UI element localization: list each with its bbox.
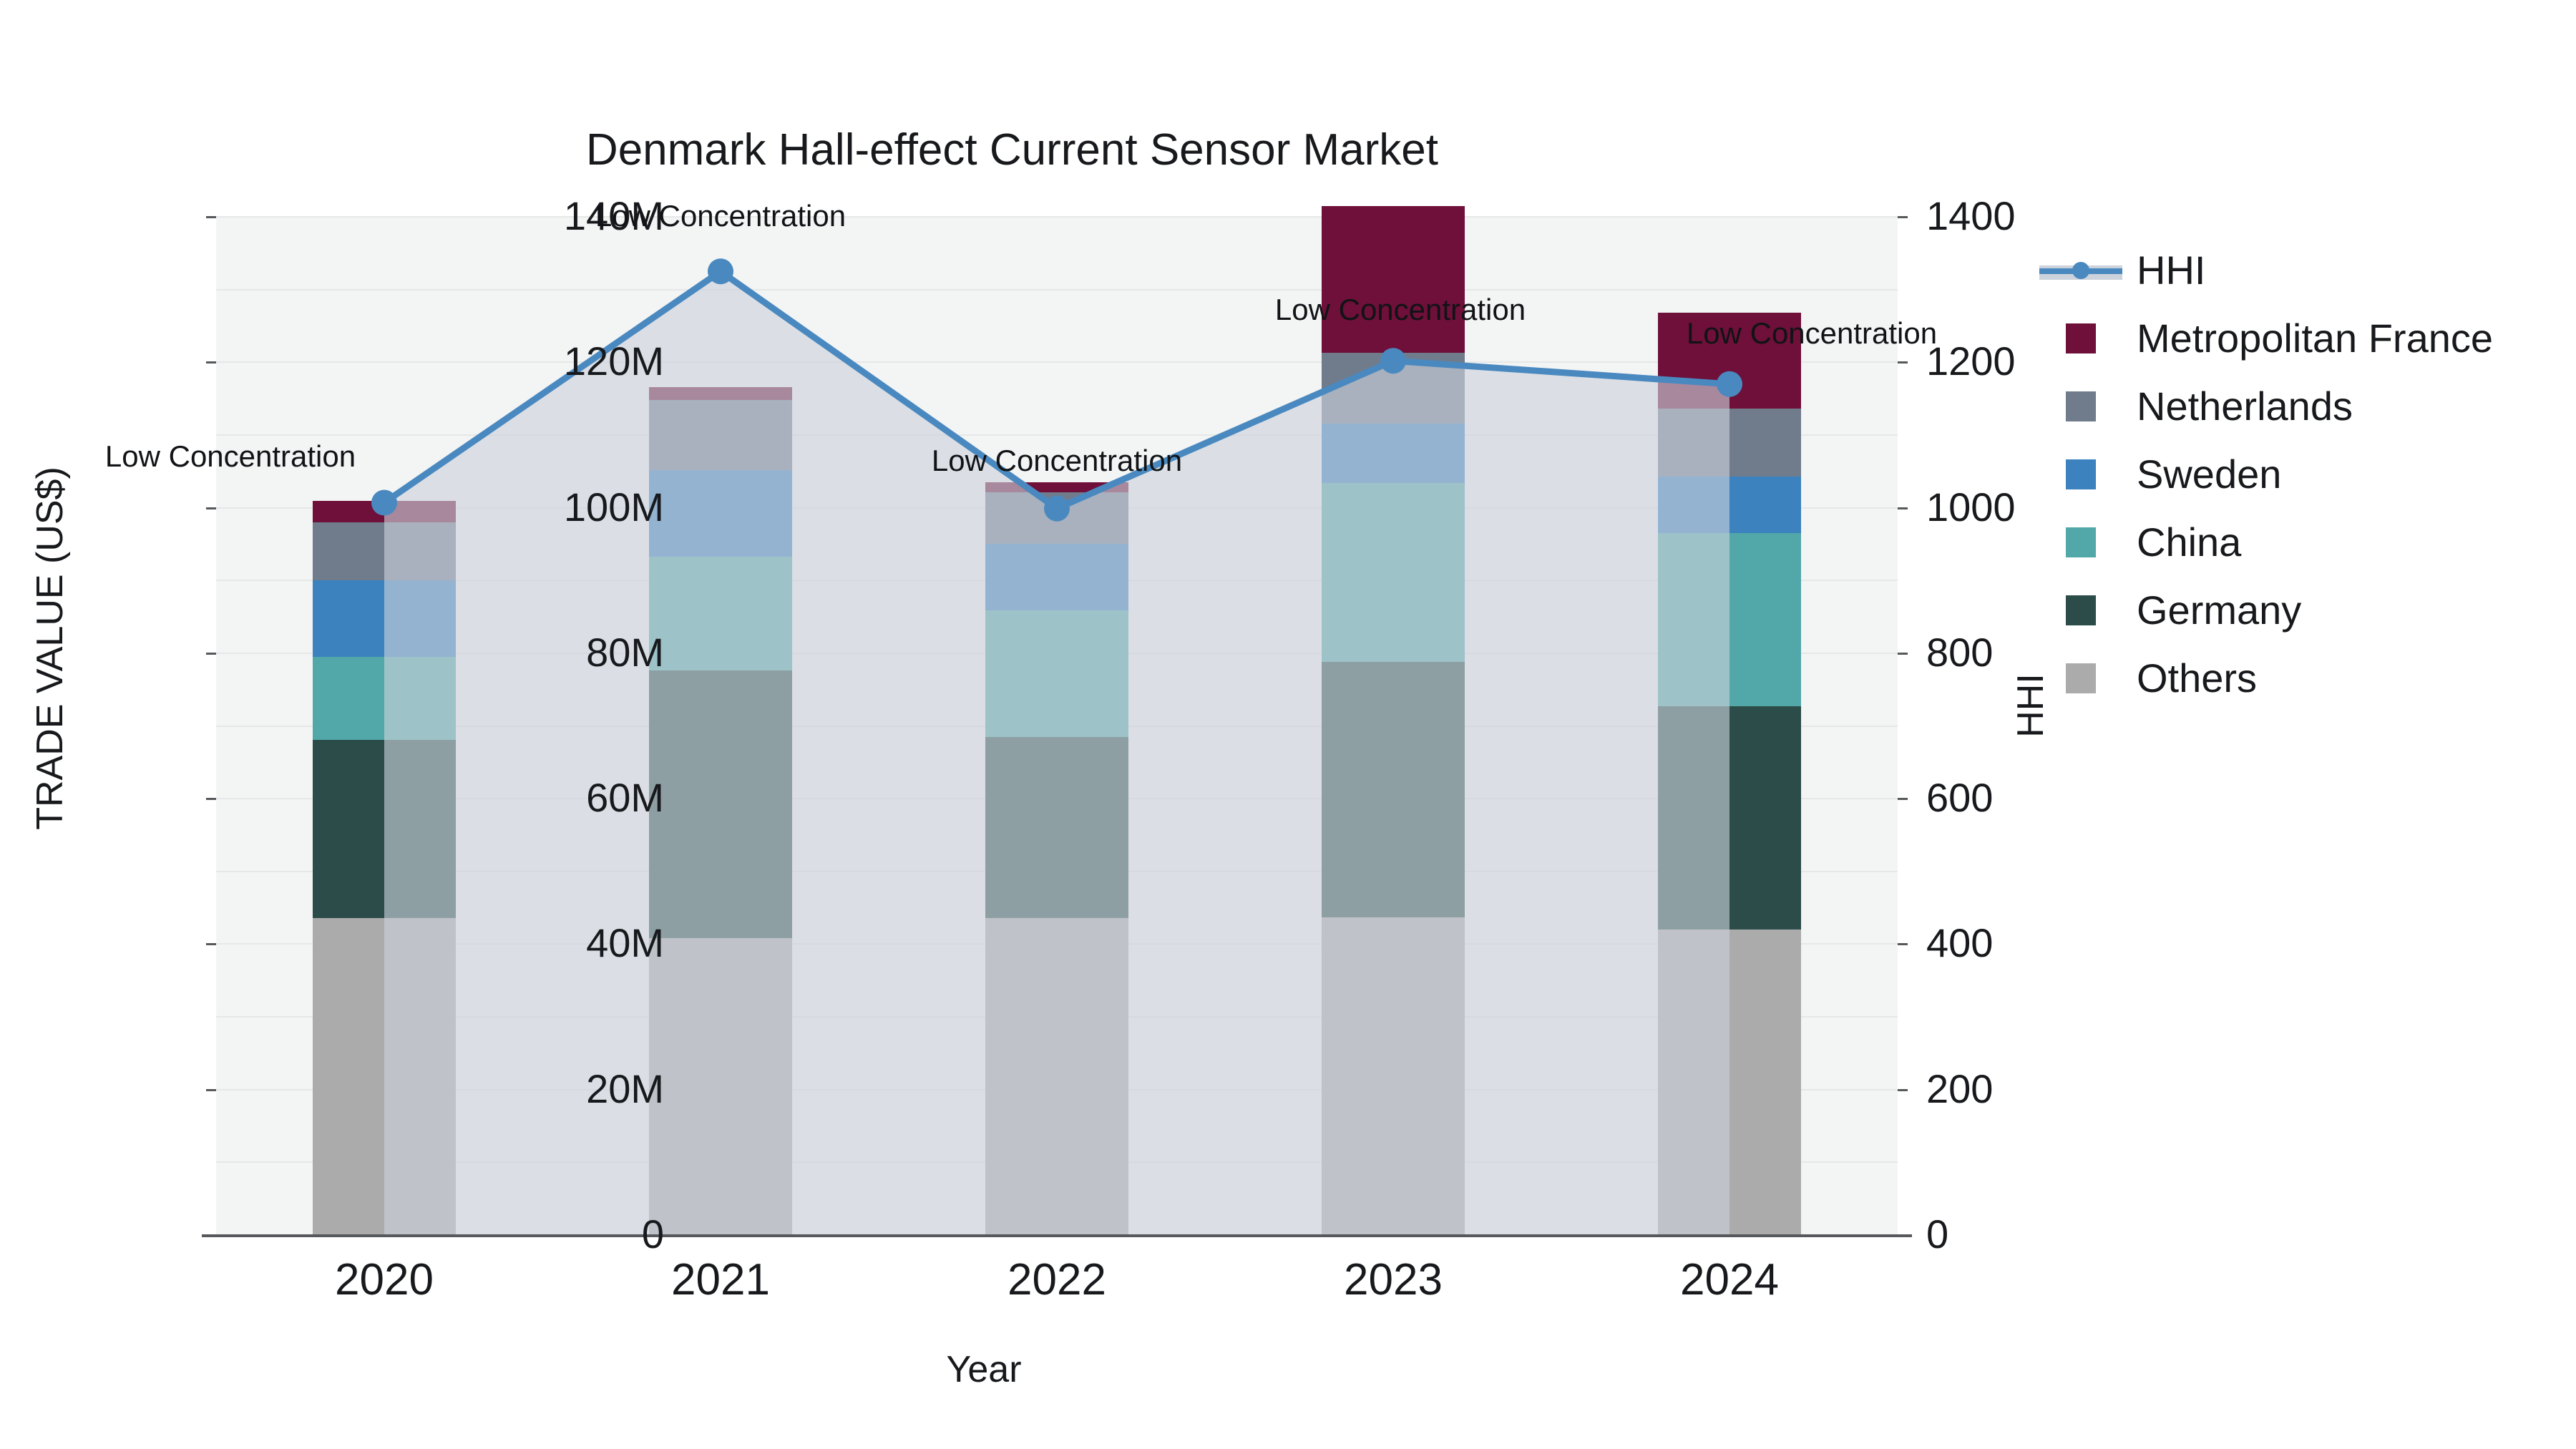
hhi-annotation-label: Low Concentration xyxy=(87,441,374,472)
y-axis-title: TRADE VALUE (US$) xyxy=(31,362,69,935)
legend-item[interactable]: China xyxy=(2038,508,2567,576)
y-axis-tick-mark xyxy=(206,1234,216,1236)
legend-item-label: China xyxy=(2137,522,2241,562)
y2-axis-tick-mark xyxy=(1898,507,1908,509)
y-axis-tick-label: 20M xyxy=(449,1069,664,1109)
y-axis-tick-mark xyxy=(206,1089,216,1091)
y2-axis-tick-mark xyxy=(1898,1089,1908,1091)
y2-axis-tick-mark xyxy=(1898,361,1908,364)
hhi-annotation-label: Low Concentration xyxy=(577,201,864,231)
hhi-data-point[interactable] xyxy=(1717,371,1742,397)
y2-axis-tick-mark xyxy=(1898,798,1908,800)
legend-item[interactable]: Sweden xyxy=(2038,440,2567,508)
legend-item[interactable]: Others xyxy=(2038,644,2567,712)
legend-item-label: Metropolitan France xyxy=(2137,318,2493,358)
chart-canvas: Denmark Hall-effect Current Sensor Marke… xyxy=(0,0,2576,1449)
y2-axis-tick-label: 1400 xyxy=(1926,196,2141,236)
legend-item[interactable]: Germany xyxy=(2038,576,2567,644)
y-axis-tick-mark xyxy=(206,216,216,218)
y2-axis-tick-mark xyxy=(1898,216,1908,218)
chart-title-line-1: Denmark Hall-effect Current Sensor Marke… xyxy=(586,125,1438,175)
hhi-data-point[interactable] xyxy=(1044,496,1070,522)
x-axis-tick-label: 2023 xyxy=(1264,1258,1522,1302)
y-axis-tick-label: 0 xyxy=(449,1214,664,1254)
y-axis-tick-mark xyxy=(206,943,216,945)
legend-item-label: Sweden xyxy=(2137,454,2281,494)
y-axis-tick-mark xyxy=(206,798,216,800)
legend-swatch-icon xyxy=(2066,527,2096,557)
x-axis-tick-label: 2020 xyxy=(255,1258,513,1302)
y2-axis-tick-mark xyxy=(1898,653,1908,655)
hhi-annotation-label: Low Concentration xyxy=(1257,295,1543,325)
y-axis-tick-label: 60M xyxy=(449,778,664,818)
legend-item[interactable]: Netherlands xyxy=(2038,372,2567,440)
legend-item-label: Netherlands xyxy=(2137,386,2353,426)
y-axis-tick-mark xyxy=(206,361,216,364)
hhi-data-point[interactable] xyxy=(371,489,397,515)
x-axis-title: Year xyxy=(841,1351,1127,1388)
legend-item[interactable]: HHI xyxy=(2038,236,2567,304)
legend-item-label: Others xyxy=(2137,658,2257,698)
legend-swatch-icon xyxy=(2066,459,2096,489)
chart-legend: HHIMetropolitan FranceNetherlandsSwedenC… xyxy=(2038,236,2567,712)
y2-axis-tick-label: 200 xyxy=(1926,1069,2141,1109)
y-axis-tick-mark xyxy=(206,653,216,655)
legend-swatch-icon xyxy=(2066,391,2096,421)
hhi-data-point[interactable] xyxy=(1380,348,1406,374)
y2-axis-tick-label: 400 xyxy=(1926,923,2141,963)
x-axis-tick-label: 2022 xyxy=(928,1258,1186,1302)
x-axis-tick-label: 2024 xyxy=(1601,1258,1858,1302)
y2-axis-tick-mark xyxy=(1898,1234,1908,1236)
legend-item-label: HHI xyxy=(2137,250,2205,291)
legend-swatch-icon xyxy=(2066,663,2096,693)
hhi-line-legend-icon xyxy=(2039,255,2122,286)
y2-axis-tick-label: 0 xyxy=(1926,1214,2141,1254)
y-axis-tick-label: 120M xyxy=(449,341,664,381)
legend-item-label: Germany xyxy=(2137,590,2301,630)
legend-item[interactable]: Metropolitan France xyxy=(2038,304,2567,372)
y-axis-tick-label: 80M xyxy=(449,633,664,673)
y2-axis-tick-mark xyxy=(1898,943,1908,945)
x-axis-tick-label: 2021 xyxy=(592,1258,849,1302)
y-axis-tick-mark xyxy=(206,507,216,509)
hhi-annotation-label: Low Concentration xyxy=(914,446,1200,476)
hhi-data-point[interactable] xyxy=(708,258,733,284)
y-axis-tick-label: 100M xyxy=(449,487,664,527)
hhi-annotation-label: Low Concentration xyxy=(1669,318,1955,348)
legend-swatch-icon xyxy=(2066,323,2096,353)
legend-swatch-icon xyxy=(2066,595,2096,625)
y-axis-tick-label: 40M xyxy=(449,923,664,963)
